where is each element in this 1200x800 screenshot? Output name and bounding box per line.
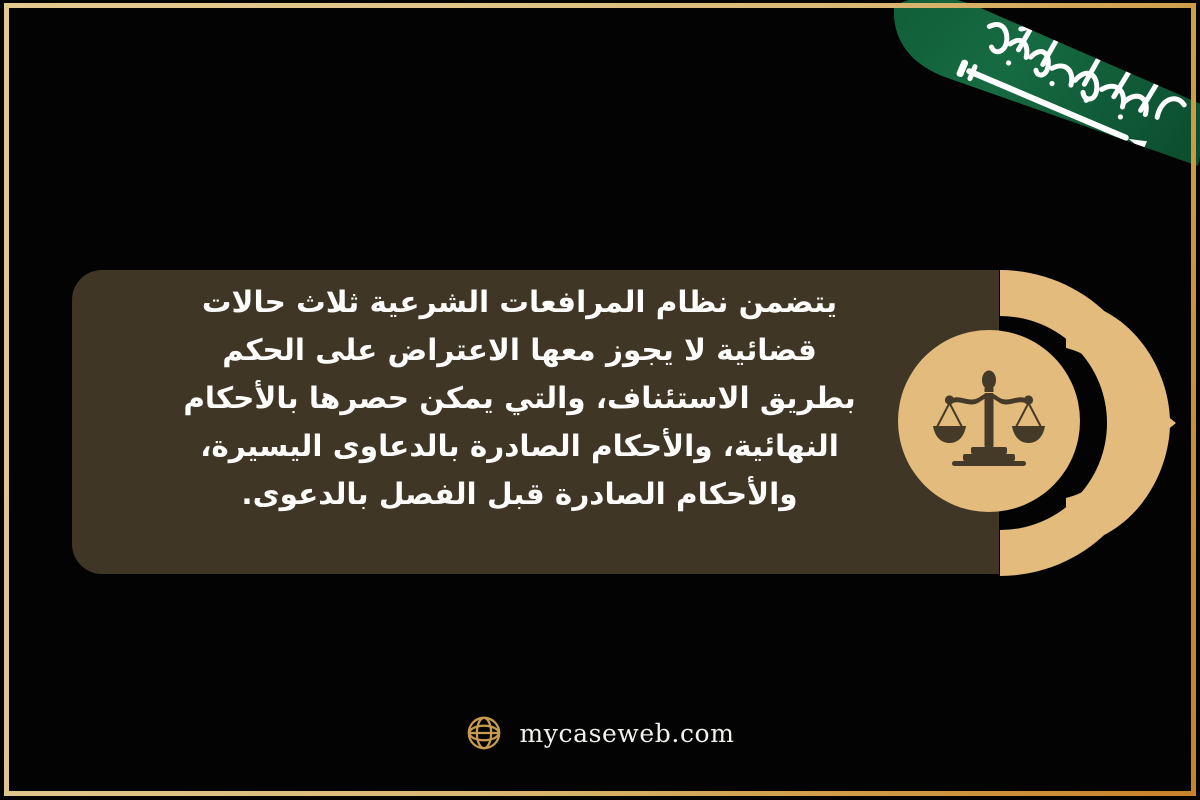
scales-of-justice-icon [930, 362, 1048, 480]
saudi-arabia-flag-ribbon [880, 0, 1200, 200]
quote-line: والأحكام الصادرة قبل الفصل بالدعوى. [86, 470, 953, 518]
quote-line: قضائية لا يجوز معها الاعتراض على الحكم [86, 326, 953, 374]
quote-line: بطريق الاستئناف، والتي يمكن حصرها بالأحك… [86, 374, 953, 422]
quote-card: يتضمن نظام المرافعات الشرعية ثلاث حالات … [72, 270, 999, 574]
slide-canvas: يتضمن نظام المرافعات الشرعية ثلاث حالات … [0, 0, 1200, 800]
website-label: mycaseweb.com [519, 719, 734, 748]
scales-disc [898, 330, 1080, 512]
quote-line: النهائية، والأحكام الصادرة بالدعاوى اليس… [86, 422, 953, 470]
globe-icon [465, 714, 503, 752]
footer: mycaseweb.com [0, 714, 1200, 752]
quote-line: يتضمن نظام المرافعات الشرعية ثلاث حالات [86, 278, 953, 326]
quote-text: يتضمن نظام المرافعات الشرعية ثلاث حالات … [72, 278, 999, 518]
